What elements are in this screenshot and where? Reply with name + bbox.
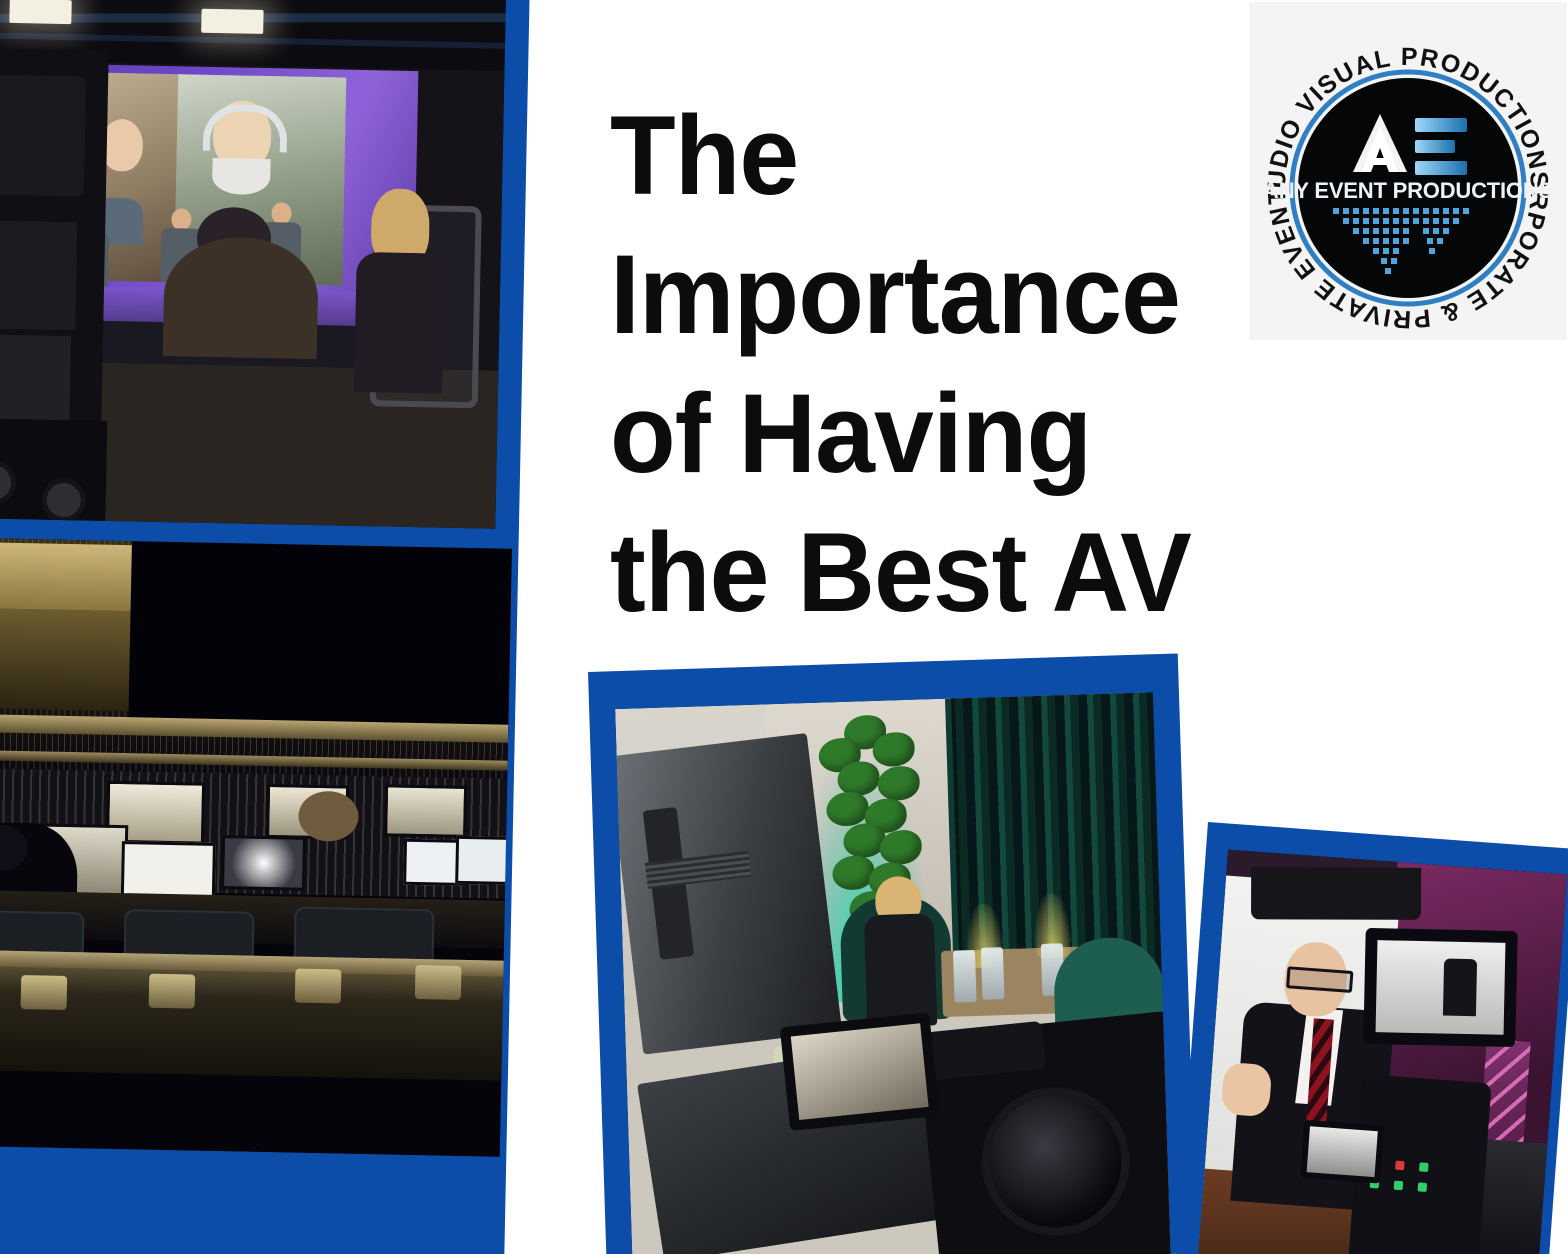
monitor-preview-subject <box>1442 958 1476 1016</box>
camera-top-monitor <box>1363 928 1517 1047</box>
road-case-latch <box>415 965 462 1000</box>
photo-control-room <box>0 538 512 1157</box>
speaker-scene <box>1197 850 1567 1254</box>
stage-light <box>201 9 263 34</box>
laptop-screen <box>455 836 512 885</box>
logo-wordmark: ANY EVENT PRODUCTIONS <box>1263 178 1553 203</box>
photo-conference-panel <box>0 0 506 529</box>
photo-speaker-on-camera <box>1197 850 1567 1254</box>
decor-vase <box>953 950 977 1003</box>
stage-light <box>9 0 71 24</box>
speaker-glasses <box>1286 966 1353 993</box>
conference-scene <box>0 0 506 529</box>
road-case-latch <box>295 969 342 1004</box>
attendee <box>350 188 450 390</box>
monitor <box>384 784 467 838</box>
poster-canvas: The Importance of Having the Best AV AUD… <box>0 0 1568 1254</box>
decor-vase <box>981 947 1005 1000</box>
road-case-latch <box>149 974 196 1009</box>
monitor <box>121 841 216 901</box>
page-title: The Importance of Having the Best AV <box>610 86 1263 642</box>
studio-scene <box>615 692 1170 1254</box>
drape-valance <box>1251 867 1421 920</box>
logo-svg: AUDIO VISUAL PRODUCTIONS · CORPORATE & P… <box>1249 2 1567 340</box>
control-room-scene <box>0 538 512 1157</box>
monitor <box>221 835 306 891</box>
photo-virtual-studio <box>615 692 1170 1254</box>
display-monitor-rear <box>615 733 842 1055</box>
photo-frame-virtual-studio <box>588 653 1197 1254</box>
road-case-latch <box>21 975 68 1010</box>
speaker-hand <box>1221 1062 1273 1117</box>
logo-container: AUDIO VISUAL PRODUCTIONS · CORPORATE & P… <box>1249 2 1567 340</box>
camera-flip-lcd <box>1300 1120 1384 1184</box>
dark-screen <box>128 541 512 739</box>
camcorder-lcd-screen <box>780 1012 940 1131</box>
presenter <box>857 875 946 1028</box>
any-event-productions-logo: AUDIO VISUAL PRODUCTIONS · CORPORATE & P… <box>1249 2 1567 340</box>
photo-frame-speaker <box>1175 822 1568 1254</box>
